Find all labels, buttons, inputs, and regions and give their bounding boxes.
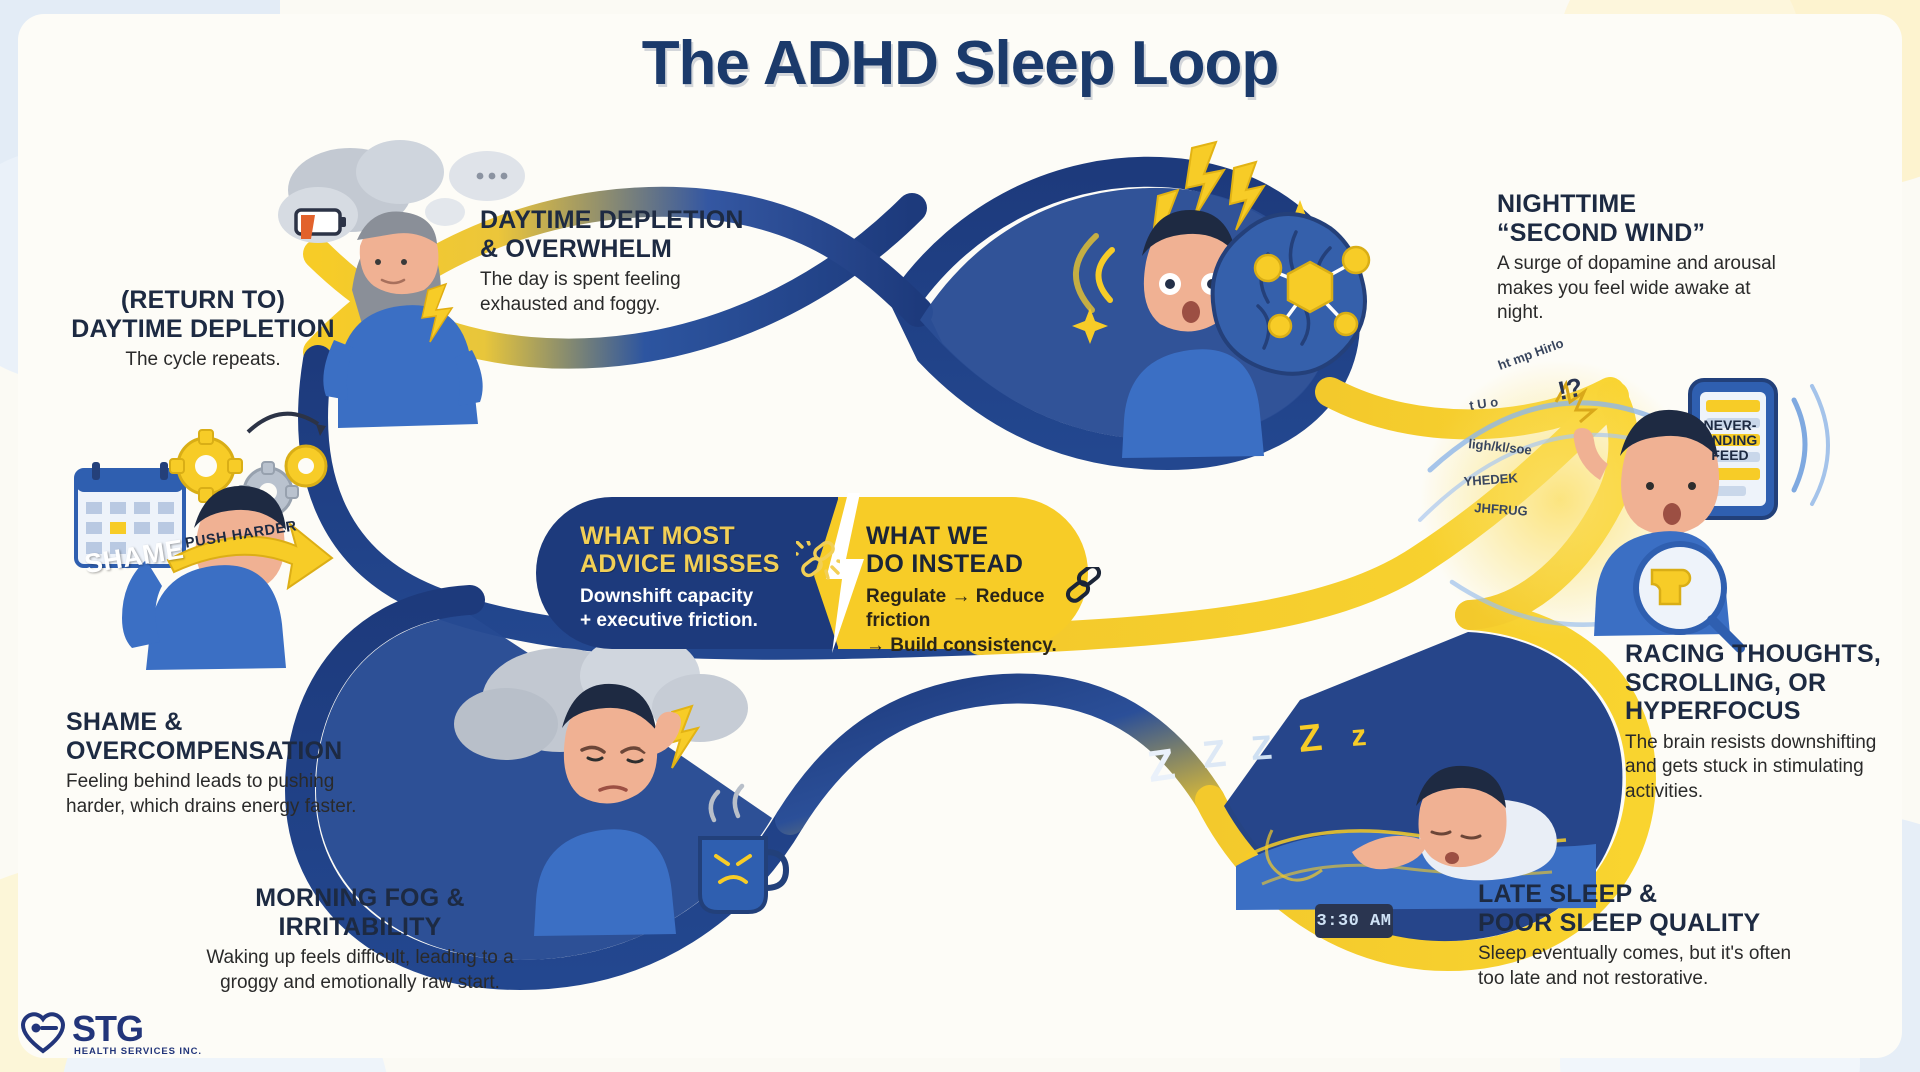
stage-label-shame-overcompensation: SHAME & OVERCOMPENSATION Feeling behind … <box>66 708 386 819</box>
svg-text:Z: Z <box>1201 733 1228 777</box>
brand-logo: STG HEALTH SERVICES INC. <box>20 1010 260 1066</box>
banner-right-body: Regulate → Reduce friction → Build consi… <box>866 585 1086 658</box>
stage-body: Feeling behind leads to pushing harder, … <box>66 770 366 819</box>
stage-heading: DAYTIME DEPLETION & OVERWHELM <box>480 206 780 263</box>
stage-body: The day is spent feeling exhausted and f… <box>480 268 695 317</box>
stage-body: Waking up feels difficult, leading to a … <box>200 946 520 995</box>
stage-label-daytime-depletion-overwhelm: DAYTIME DEPLETION & OVERWHELM The day is… <box>480 206 780 317</box>
stage-body: The brain resists downshifting and gets … <box>1625 731 1897 805</box>
banner-left-heading: WHAT MOST ADVICE MISSES <box>580 523 828 578</box>
banner-right-text: WHAT WE DO INSTEAD Regulate → Reduce fri… <box>866 523 1086 658</box>
stage-heading: SHAME & OVERCOMPENSATION <box>66 708 386 765</box>
infographic-canvas: !? ht mp Hirlo t U o ligh/kl/soe YHEDEK … <box>0 0 1920 1072</box>
illustration-racing-thoughts: !? ht mp Hirlo t U o ligh/kl/soe YHEDEK … <box>1420 335 1828 648</box>
heart-logo-icon <box>20 1010 66 1056</box>
stage-heading: RACING THOUGHTS, SCROLLING, OR HYPERFOCU… <box>1625 640 1920 726</box>
stage-body: Sleep eventually comes, but it's often t… <box>1478 942 1808 991</box>
brain-icon <box>1213 214 1369 374</box>
banner-left-text: WHAT MOST ADVICE MISSES Downshift capaci… <box>580 523 828 634</box>
low-battery-icon <box>296 210 346 239</box>
svg-text:z: z <box>1350 719 1367 753</box>
stage-body: A surge of dopamine and arousal makes yo… <box>1497 252 1783 326</box>
stage-heading: NIGHTTIME “SECOND WIND” <box>1497 190 1807 247</box>
never-ending-feed-label: NEVER- ENDING FEED <box>1687 418 1773 463</box>
stage-body: The cycle repeats. <box>48 348 358 373</box>
stage-label-late-sleep: LATE SLEEP & POOR SLEEP QUALITY Sleep ev… <box>1478 880 1828 991</box>
svg-text:Z: Z <box>1250 729 1273 768</box>
stage-heading: MORNING FOG & IRRITABILITY <box>200 884 520 941</box>
stage-label-morning-fog: MORNING FOG & IRRITABILITY Waking up fee… <box>200 884 520 995</box>
alarm-clock-display: 3:30 AM <box>1315 904 1393 938</box>
banner-left-body: Downshift capacity + executive friction. <box>580 585 828 634</box>
banner-right-heading: WHAT WE DO INSTEAD <box>866 523 1086 578</box>
stage-heading: LATE SLEEP & POOR SLEEP QUALITY <box>1478 880 1828 937</box>
advice-comparison-banner: WHAT MOST ADVICE MISSES Downshift capaci… <box>536 497 1088 649</box>
stage-heading: (RETURN TO) DAYTIME DEPLETION <box>48 286 358 343</box>
stage-label-return-daytime-depletion: (RETURN TO) DAYTIME DEPLETION The cycle … <box>48 286 358 373</box>
push-harder-label-wrap: PUSH HARDER <box>178 519 304 551</box>
stage-label-racing-thoughts: RACING THOUGHTS, SCROLLING, OR HYPERFOCU… <box>1625 640 1920 805</box>
logo-wordmark: STG <box>72 1008 143 1050</box>
chain-link-icon <box>1062 567 1106 603</box>
logo-tagline: HEALTH SERVICES INC. <box>74 1046 202 1057</box>
svg-text:Z: Z <box>1297 717 1324 761</box>
page-title: The ADHD Sleep Loop <box>0 28 1920 99</box>
broken-chain-icon <box>796 541 840 581</box>
stage-label-nighttime-second-wind: NIGHTTIME “SECOND WIND” A surge of dopam… <box>1497 190 1807 326</box>
